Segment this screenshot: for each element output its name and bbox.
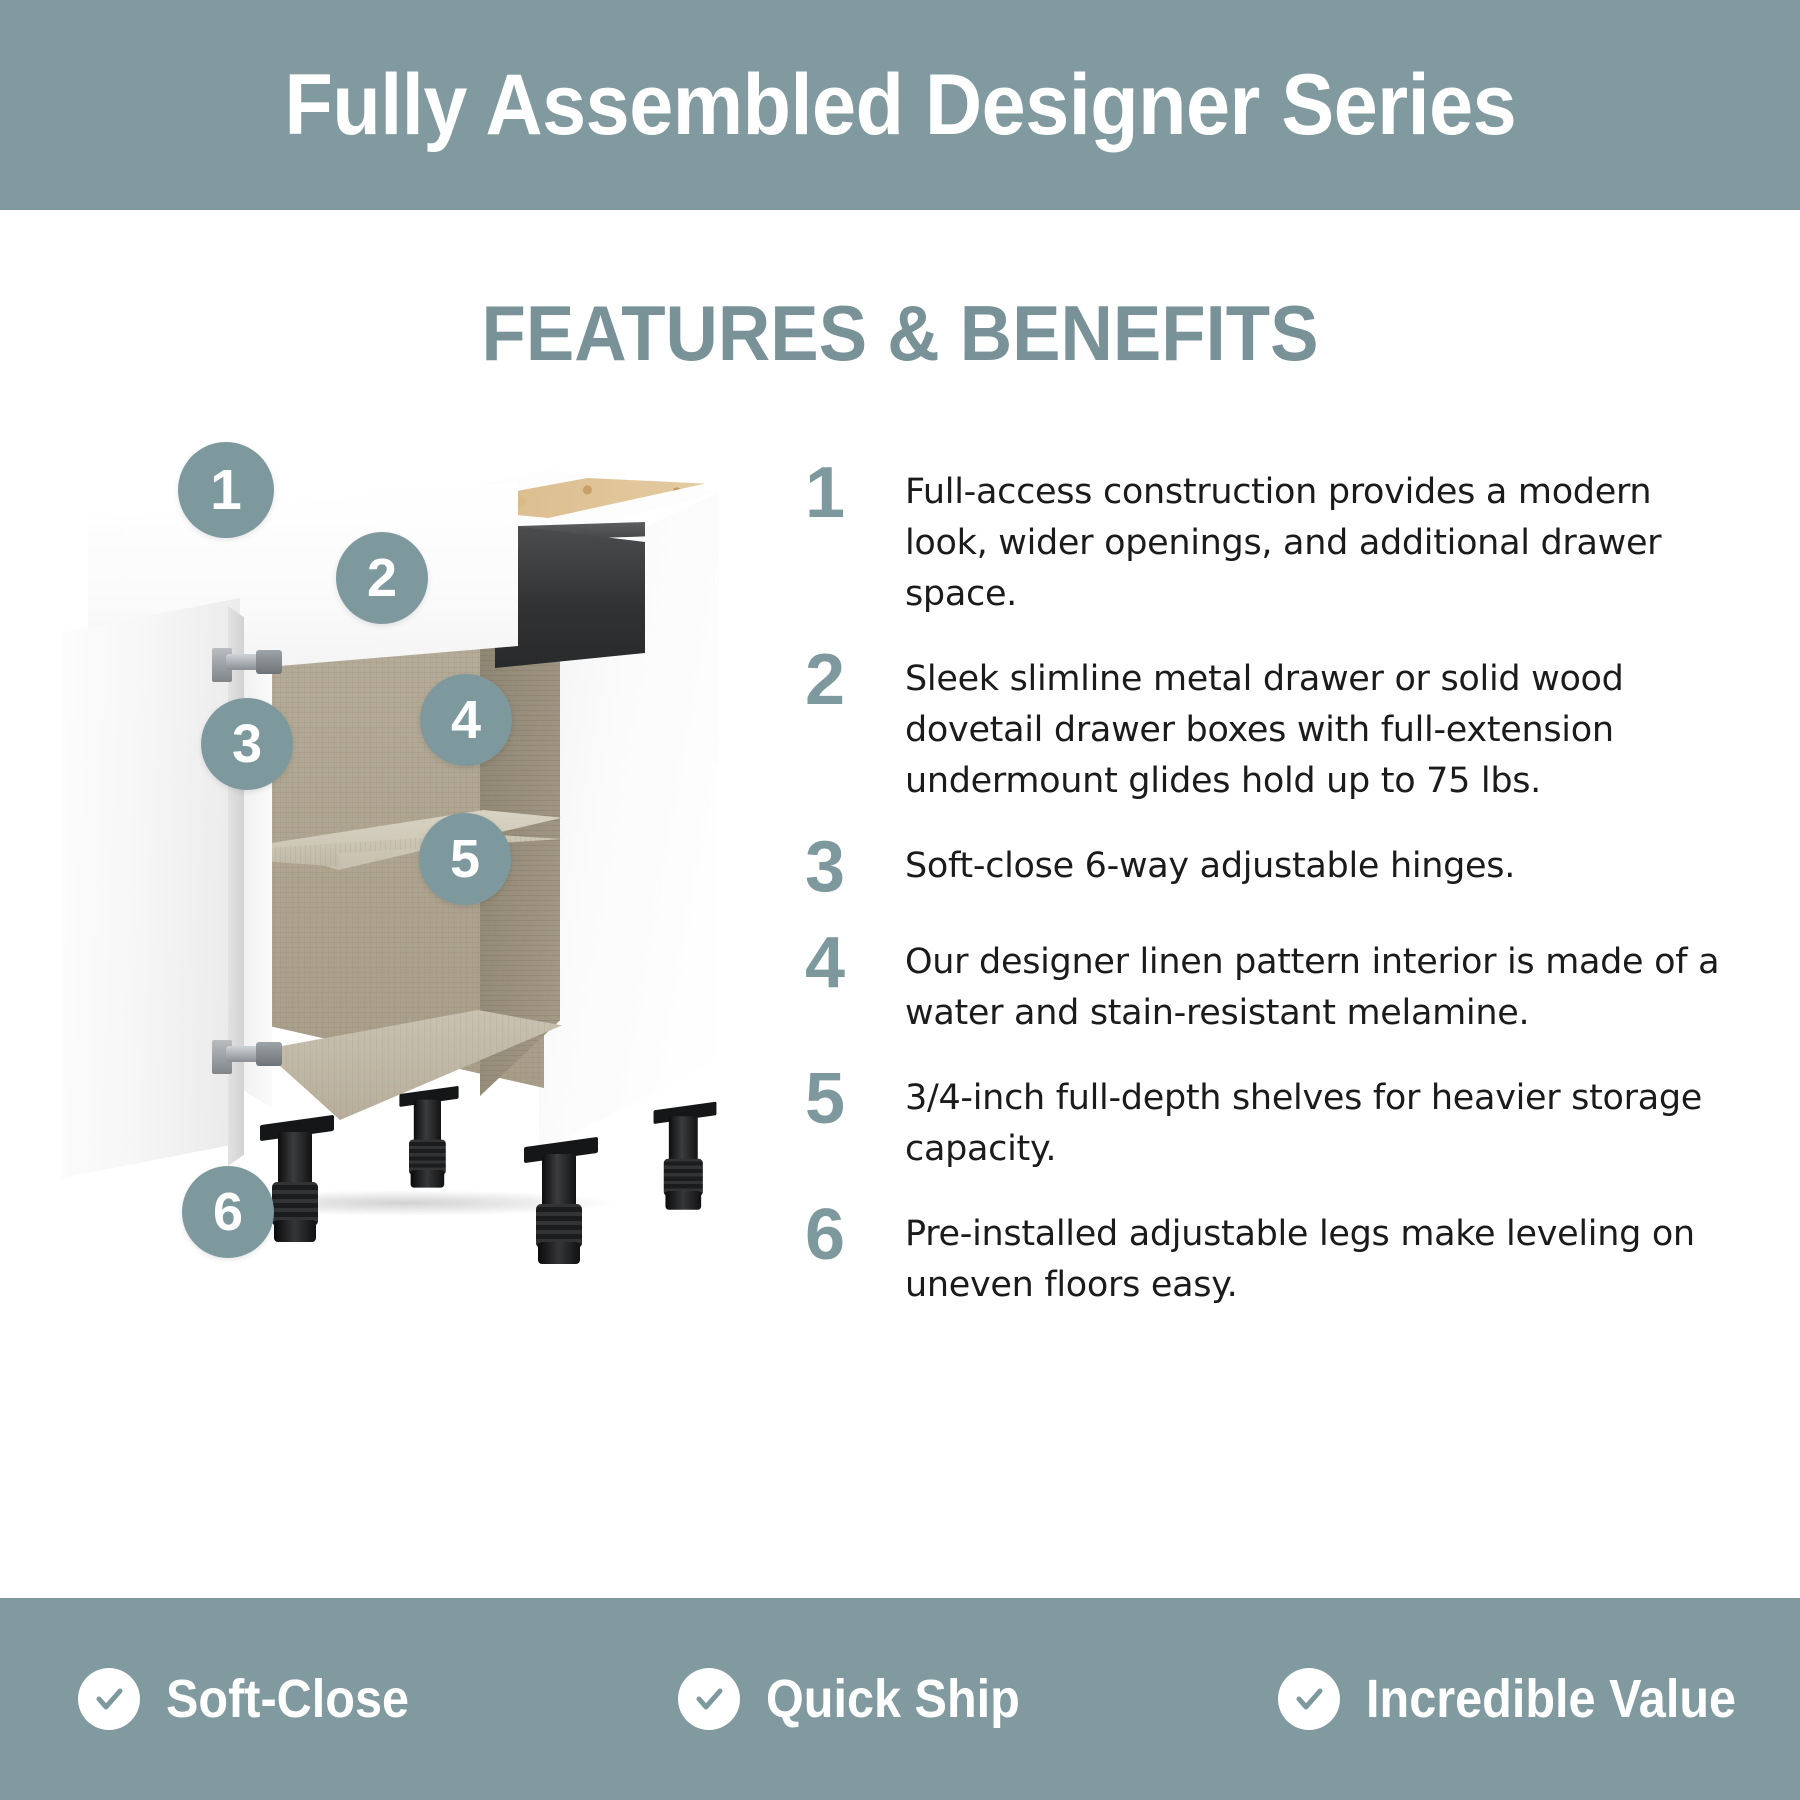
leg-foot bbox=[665, 1191, 701, 1210]
footer-feature-label: Incredible Value bbox=[1366, 1668, 1736, 1730]
feature-description: Full-access construction provides a mode… bbox=[905, 455, 1735, 620]
callout-badge-1[interactable]: 1 bbox=[178, 442, 274, 538]
callout-badge-6[interactable]: 6 bbox=[182, 1166, 274, 1258]
leg-post bbox=[278, 1132, 312, 1188]
leg-foot bbox=[411, 1170, 445, 1188]
feature-description: Pre-installed adjustable legs make level… bbox=[905, 1197, 1735, 1311]
soft-close-hinge-top-icon bbox=[212, 638, 290, 684]
hinge-cup bbox=[256, 650, 282, 674]
footer-feature-label: Soft-Close bbox=[166, 1668, 409, 1730]
feature-number: 6 bbox=[805, 1197, 905, 1271]
footer-feature-1: Soft-Close bbox=[0, 1668, 600, 1730]
check-circle-icon bbox=[1278, 1668, 1340, 1730]
feature-item: 1Full-access construction provides a mod… bbox=[805, 455, 1735, 620]
feature-number: 3 bbox=[805, 829, 905, 903]
footer-feature-label: Quick Ship bbox=[766, 1668, 1020, 1730]
page-header-banner: Fully Assembled Designer Series bbox=[0, 0, 1800, 210]
feature-item: 4Our designer linen pattern interior is … bbox=[805, 925, 1735, 1039]
feature-description: Our designer linen pattern interior is m… bbox=[905, 925, 1735, 1039]
footer-banner: Soft-CloseQuick ShipIncredible Value bbox=[0, 1598, 1800, 1800]
section-heading: FEATURES & BENEFITS bbox=[63, 288, 1737, 379]
leg-post bbox=[669, 1116, 698, 1164]
check-circle-icon bbox=[78, 1668, 140, 1730]
callout-badge-2[interactable]: 2 bbox=[336, 532, 428, 624]
leg-post bbox=[542, 1154, 576, 1210]
callout-badge-3[interactable]: 3 bbox=[201, 698, 293, 790]
feature-description: Sleek slimline metal drawer or solid woo… bbox=[905, 642, 1735, 807]
feature-item: 6Pre-installed adjustable legs make leve… bbox=[805, 1197, 1735, 1311]
feature-item: 2Sleek slimline metal drawer or solid wo… bbox=[805, 642, 1735, 807]
feature-description: 3/4-inch full-depth shelves for heavier … bbox=[905, 1061, 1735, 1175]
feature-number: 4 bbox=[805, 925, 905, 999]
check-circle-icon bbox=[678, 1668, 740, 1730]
feature-number: 1 bbox=[805, 455, 905, 529]
leg-foot bbox=[274, 1220, 316, 1242]
cabinet-door-open bbox=[50, 598, 240, 1178]
feature-number: 5 bbox=[805, 1061, 905, 1135]
callout-badge-4[interactable]: 4 bbox=[420, 674, 512, 766]
soft-close-hinge-bottom-icon bbox=[212, 1030, 290, 1076]
feature-description: Soft-close 6-way adjustable hinges. bbox=[905, 829, 1735, 892]
leg-foot bbox=[538, 1242, 580, 1264]
leg-post bbox=[414, 1100, 441, 1145]
feature-item: 53/4-inch full-depth shelves for heavier… bbox=[805, 1061, 1735, 1175]
features-list: 1Full-access construction provides a mod… bbox=[805, 455, 1735, 1333]
feature-item: 3Soft-close 6-way adjustable hinges. bbox=[805, 829, 1735, 903]
hinge-cup bbox=[256, 1042, 282, 1066]
footer-feature-3: Incredible Value bbox=[1200, 1668, 1800, 1730]
page-title: Fully Assembled Designer Series bbox=[284, 56, 1516, 155]
callout-badge-5[interactable]: 5 bbox=[419, 813, 511, 905]
feature-number: 2 bbox=[805, 642, 905, 716]
footer-feature-2: Quick Ship bbox=[600, 1668, 1200, 1730]
cabinet-door-edge bbox=[228, 606, 244, 1166]
